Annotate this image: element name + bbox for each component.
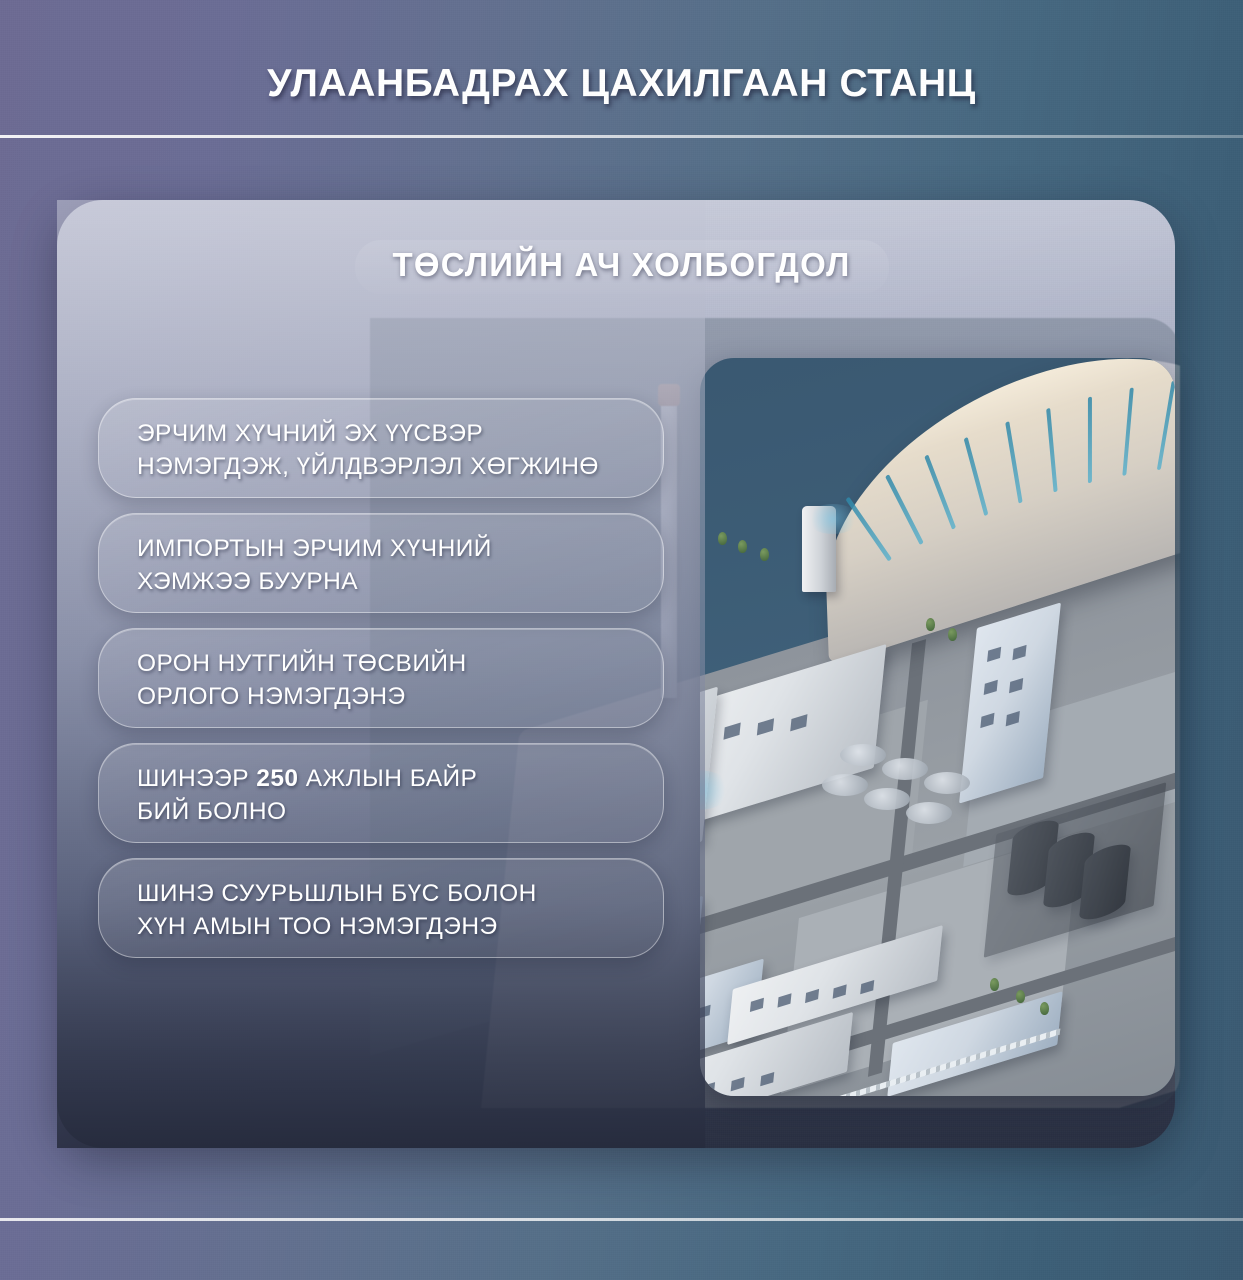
clarifier-1 <box>840 744 886 766</box>
bullet-line-2: НЭМЭГДЭЖ, ҮЙЛДВЭРЛЭЛ ХӨГЖИНӨ <box>137 451 637 484</box>
tree <box>718 532 727 545</box>
bullet-line-1: ОРОН НУТГИЙН ТӨСВИЙН <box>137 648 637 681</box>
bullet-text-pre: ШИНЭЭР <box>137 765 256 792</box>
tree <box>926 618 935 631</box>
plant-render-card <box>700 358 1175 1096</box>
page-title: УЛААНБАДРАХ ЦАХИЛГААН СТАНЦ <box>0 62 1243 106</box>
tree <box>948 628 957 641</box>
plant-render-image <box>700 358 1175 1096</box>
bullet-line-1: ШИНЭЭР 250 АЖЛЫН БАЙР <box>137 763 637 796</box>
list-item[interactable]: ИМПОРТЫН ЭРЧИМ ХҮЧНИЙ ХЭМЖЭЭ БУУРНА <box>98 513 664 613</box>
bullet-line-2: БИЙ БОЛНО <box>137 796 637 829</box>
bullet-line-2: ХҮН АМЫН ТОО НЭМЭГДЭНЭ <box>137 911 637 944</box>
bullet-line-2: ХЭМЖЭЭ БУУРНА <box>137 566 637 599</box>
bullet-line-1: ШИНЭ СУУРЬШЛЫН БҮС БОЛОН <box>137 878 637 911</box>
tree <box>1016 990 1025 1003</box>
list-item[interactable]: ОРОН НУТГИЙН ТӨСВИЙН ОРЛОГО НЭМЭГДЭНЭ <box>98 628 664 728</box>
bullet-line-1: ЭРЧИМ ХҮЧНИЙ ЭХ ҮҮСВЭР <box>137 418 637 451</box>
jobs-count: 250 <box>256 765 298 792</box>
list-item[interactable]: ЭРЧИМ ХҮЧНИЙ ЭХ ҮҮСВЭР НЭМЭГДЭЖ, ҮЙЛДВЭР… <box>98 398 664 498</box>
list-item[interactable]: ШИНЭ СУУРЬШЛЫН БҮС БОЛОН ХҮН АМЫН ТОО НЭ… <box>98 858 664 958</box>
bullet-line-1: ИМПОРТЫН ЭРЧИМ ХҮЧНИЙ <box>137 533 637 566</box>
section-title: ТӨСЛИЙН АЧ ХОЛБОГДОЛ <box>354 240 888 294</box>
tree <box>738 540 747 553</box>
bullet-text-post: АЖЛЫН БАЙР <box>299 765 478 792</box>
benefits-list: ЭРЧИМ ХҮЧНИЙ ЭХ ҮҮСВЭР НЭМЭГДЭЖ, ҮЙЛДВЭР… <box>98 398 664 958</box>
tree <box>1040 1002 1049 1015</box>
clarifier-2 <box>882 758 928 780</box>
list-item[interactable]: ШИНЭЭР 250 АЖЛЫН БАЙР БИЙ БОЛНО <box>98 743 664 843</box>
clarifier-5 <box>864 788 910 810</box>
tree <box>760 548 769 561</box>
tree <box>990 978 999 991</box>
clarifier-6 <box>906 802 952 824</box>
light-glow-3 <box>806 504 860 534</box>
clarifier-3 <box>924 772 970 794</box>
clarifier-4 <box>822 774 868 796</box>
plant-scene <box>700 358 1175 1096</box>
footer-divider <box>0 1218 1243 1221</box>
slide-root: УЛААНБАДРАХ ЦАХИЛГААН СТАНЦ <box>0 0 1243 1280</box>
header-divider <box>0 135 1243 138</box>
bullet-line-2: ОРЛОГО НЭМЭГДЭНЭ <box>137 681 637 714</box>
slide-header: УЛААНБАДРАХ ЦАХИЛГААН СТАНЦ <box>0 0 1243 136</box>
